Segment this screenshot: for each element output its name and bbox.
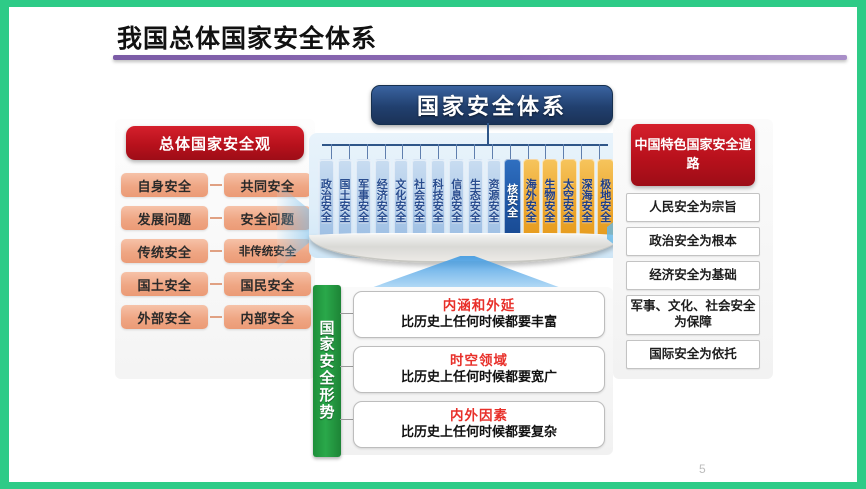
- pair-connector-dash: [210, 217, 222, 219]
- pair-connector-dash: [210, 283, 222, 285]
- center-header-label: 国家安全体系: [417, 89, 567, 121]
- left-panel-header-label: 总体国家安全观: [159, 133, 271, 154]
- right-list-item[interactable]: 国际安全为依托: [626, 340, 760, 369]
- right-list-item-label: 国际安全为依托: [649, 347, 737, 363]
- security-column-char: 全: [339, 213, 350, 224]
- vertical-label-char: 势: [319, 405, 334, 422]
- security-column-char: 全: [544, 213, 555, 224]
- right-list-item-label: 军事、文化、社会安全为保障: [627, 299, 759, 330]
- slide: 我国总体国家安全体系 总体国家安全观 自身安全共同安全发展问题安全问题传统安全非…: [0, 0, 866, 489]
- bottom-card-highlight: 内外因素: [450, 408, 508, 424]
- security-column-char: 全: [451, 213, 462, 224]
- left-pair-pill[interactable]: 自身安全: [121, 173, 208, 197]
- left-pair-row: 外部安全内部安全: [121, 305, 311, 329]
- bottom-card-text: 比历史上任何时候都要宽广: [401, 369, 557, 385]
- right-list-item[interactable]: 人民安全为宗旨: [626, 193, 760, 222]
- left-pair-pill-label: 外部安全: [137, 308, 191, 327]
- left-pair-pill-label: 自身安全: [137, 176, 191, 195]
- security-column-char: 全: [377, 213, 388, 224]
- pair-connector-dash: [210, 250, 222, 252]
- bottom-card[interactable]: 内涵和外延比历史上任何时候都要丰富: [353, 291, 605, 338]
- left-pair-pill-label: 传统安全: [137, 242, 191, 261]
- security-column-char: 全: [526, 213, 537, 224]
- security-column-char: 全: [433, 213, 444, 224]
- left-pair-pill[interactable]: 发展问题: [121, 206, 208, 230]
- security-column-char: 全: [321, 213, 332, 224]
- left-pair-pill-label: 发展问题: [137, 209, 191, 228]
- left-pair-row: 国土安全国民安全: [121, 272, 311, 296]
- security-column[interactable]: 政治安全: [318, 159, 335, 245]
- title-underline-rule: [113, 55, 847, 60]
- right-list-item[interactable]: 军事、文化、社会安全为保障: [626, 295, 760, 335]
- left-pair-pill[interactable]: 国民安全: [224, 272, 311, 296]
- right-panel-header: 中国特色国家安全道路: [631, 124, 755, 186]
- right-item-list: 人民安全为宗旨政治安全为根本经济安全为基础军事、文化、社会安全为保障国际安全为依…: [626, 193, 760, 374]
- right-list-item-label: 经济安全为基础: [649, 268, 737, 284]
- bottom-card[interactable]: 时空领域比历史上任何时候都要宽广: [353, 346, 605, 393]
- bottom-card-text: 比历史上任何时候都要复杂: [401, 424, 557, 440]
- vertical-label-char: 家: [319, 337, 334, 354]
- pair-connector-dash: [210, 184, 222, 186]
- security-column[interactable]: 国土安全: [337, 159, 354, 245]
- pair-connector-dash: [210, 316, 222, 318]
- right-list-item[interactable]: 经济安全为基础: [626, 261, 760, 290]
- security-column-char: 全: [563, 213, 574, 224]
- bottom-connector-tick: [340, 313, 354, 314]
- left-pair-pill[interactable]: 共同安全: [224, 173, 311, 197]
- center-header-box: 国家安全体系: [371, 85, 613, 125]
- bottom-card-list: 内涵和外延比历史上任何时候都要丰富时空领域比历史上任何时候都要宽广内外因素比历史…: [353, 291, 605, 456]
- vertical-label-char: 全: [319, 371, 334, 388]
- page-number: 5: [699, 462, 706, 476]
- security-column[interactable]: 深海安全: [579, 159, 596, 245]
- bottom-vertical-label: 国家安全形势: [313, 285, 341, 457]
- vertical-label-char: 国: [319, 321, 334, 338]
- bottom-card-text: 比历史上任何时候都要丰富: [401, 314, 557, 330]
- left-pair-pill-label: 国民安全: [240, 275, 294, 294]
- page-title: 我国总体国家安全体系: [117, 19, 377, 55]
- left-pair-pill[interactable]: 外部安全: [121, 305, 208, 329]
- left-pair-pill-label: 内部安全: [240, 308, 294, 327]
- left-pair-pill[interactable]: 传统安全: [121, 239, 208, 263]
- right-list-item-label: 政治安全为根本: [649, 234, 737, 250]
- security-column-char: 全: [470, 213, 481, 224]
- security-column-char: 全: [488, 213, 499, 224]
- bottom-card-highlight: 内涵和外延: [443, 298, 516, 314]
- left-pair-pill[interactable]: 内部安全: [224, 305, 311, 329]
- right-list-item-label: 人民安全为宗旨: [649, 200, 737, 216]
- bottom-connector-lines: [340, 291, 354, 451]
- bottom-connector-tick: [340, 419, 354, 420]
- security-column-char: 全: [600, 213, 611, 224]
- right-panel-header-label: 中国特色国家安全道路: [631, 136, 755, 174]
- left-panel-header: 总体国家安全观: [126, 126, 304, 160]
- bottom-card-highlight: 时空领域: [450, 353, 508, 369]
- connector-stem: [487, 123, 489, 145]
- slide-canvas: 我国总体国家安全体系 总体国家安全观 自身安全共同安全发展问题安全问题传统安全非…: [9, 7, 857, 482]
- vertical-label-char: 安: [319, 354, 334, 371]
- security-column-char: 全: [582, 213, 593, 224]
- security-column-char: 全: [358, 213, 369, 224]
- left-pair-pill-label: 国土安全: [137, 275, 191, 294]
- security-column-char: 全: [395, 213, 406, 224]
- bottom-card[interactable]: 内外因素比历史上任何时候都要复杂: [353, 401, 605, 448]
- security-column-char: 全: [507, 208, 518, 219]
- security-column-char: 安: [507, 196, 518, 207]
- left-pair-pill[interactable]: 国土安全: [121, 272, 208, 296]
- vertical-label-char: 形: [319, 388, 334, 405]
- right-list-item[interactable]: 政治安全为根本: [626, 227, 760, 256]
- security-column-char: 全: [414, 213, 425, 224]
- bottom-connector-tick: [340, 366, 354, 367]
